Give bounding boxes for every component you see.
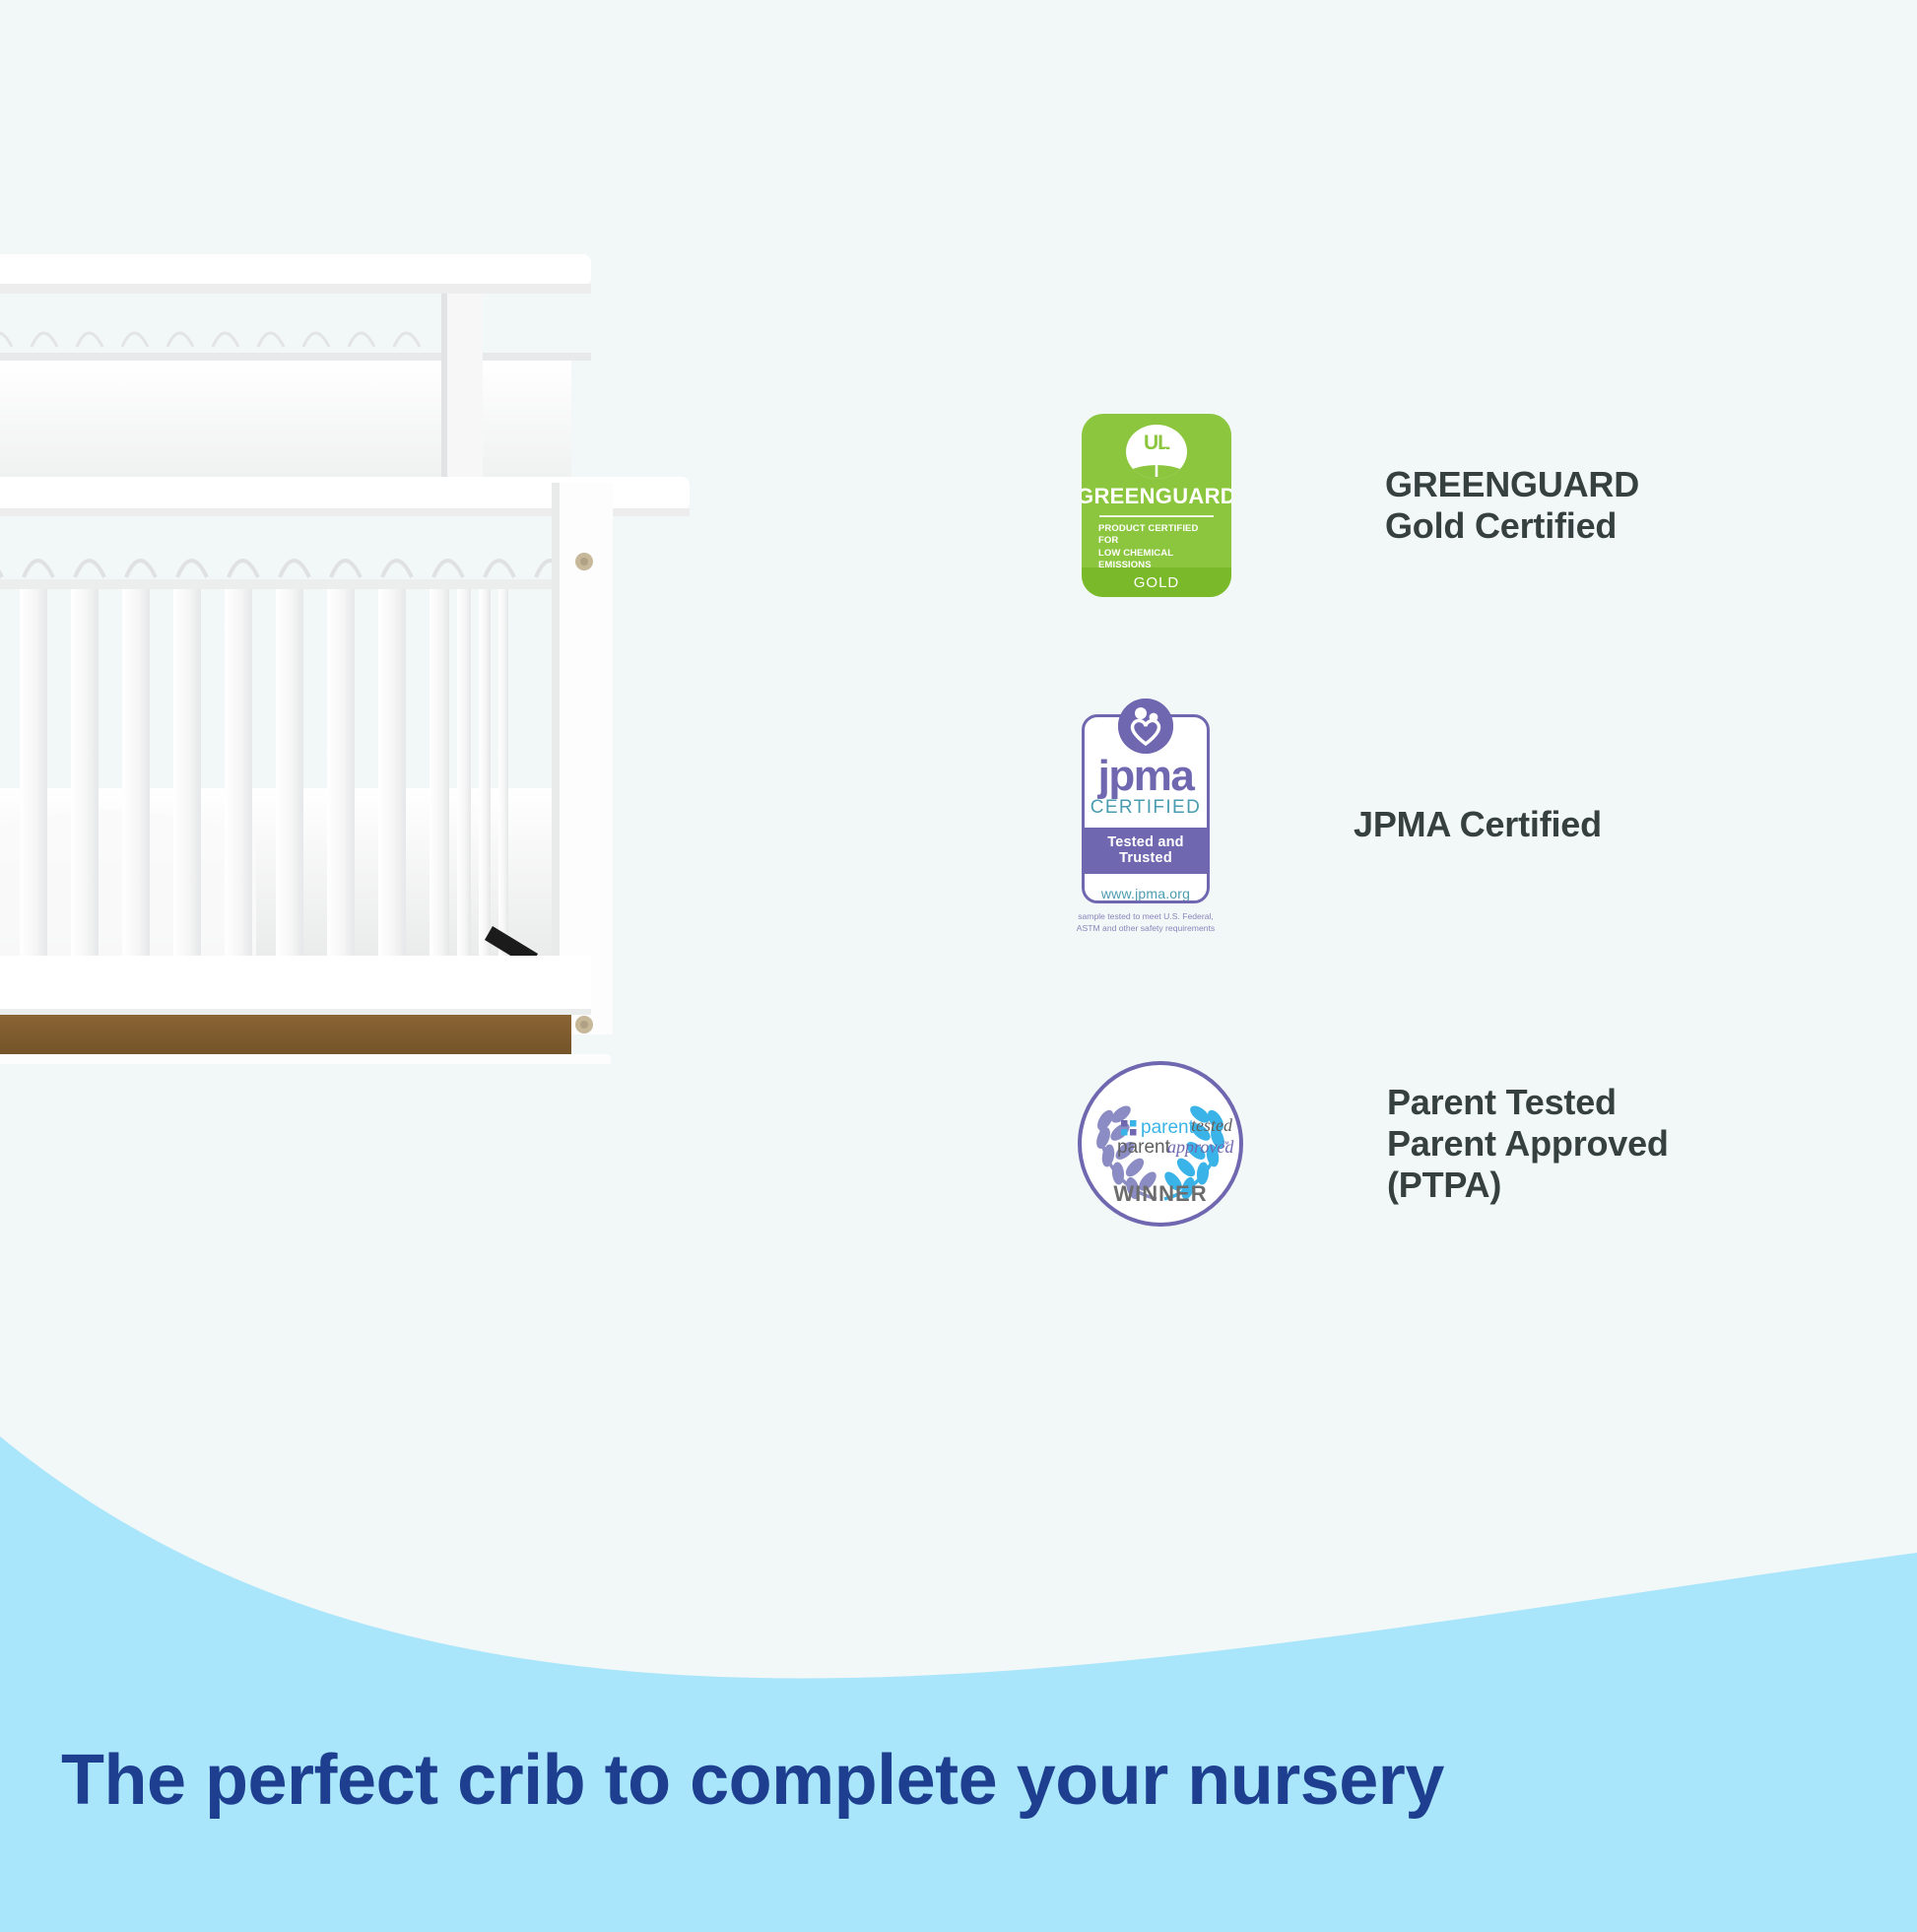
certification-label-greenguard: GREENGUARD Gold Certified: [1385, 464, 1639, 547]
certification-row-jpma: jpma CERTIFIED Tested and Trusted www.jp…: [1082, 714, 1602, 934]
certification-row-ptpa: parent tested parent approved ™ WINNER P…: [1076, 1059, 1669, 1229]
crib-product-photo: [0, 236, 690, 1064]
svg-text:parent: parent: [1117, 1137, 1171, 1158]
crib-bottom-rail: [0, 956, 591, 1011]
divider-rule: [1099, 515, 1214, 517]
greenguard-level-band: GOLD: [1082, 567, 1231, 597]
jpma-wordmark: jpma: [1085, 755, 1207, 798]
jpma-tested-trusted-band: Tested and Trusted: [1085, 828, 1207, 874]
certification-label-jpma: JPMA Certified: [1354, 804, 1602, 845]
ul-mark-icon: UL: [1126, 425, 1187, 479]
certification-label-ptpa: Parent Tested Parent Approved (PTPA): [1387, 1082, 1669, 1206]
crib-scallop-molding: [0, 561, 565, 577]
wave-footer-background: [0, 1360, 1917, 1932]
svg-text:™: ™: [1222, 1140, 1229, 1149]
jpma-certified-label: CERTIFIED: [1085, 798, 1207, 817]
crib-corner-post: [552, 483, 613, 1034]
svg-text:parent: parent: [1141, 1117, 1195, 1138]
page-headline: The perfect crib to complete your nurser…: [61, 1744, 1539, 1819]
marketing-image-canvas: UL GREENGUARD PRODUCT CERTIFIED FOR LOW …: [0, 0, 1917, 1932]
jpma-fine-print: sample tested to meet U.S. Federal, ASTM…: [1072, 911, 1220, 934]
greenguard-badge-icon: UL GREENGUARD PRODUCT CERTIFIED FOR LOW …: [1082, 414, 1231, 597]
crib-back-headboard: [0, 254, 591, 481]
leaf-icon: [1146, 447, 1167, 477]
ptpa-badge-icon: parent tested parent approved ™ WINNER: [1076, 1059, 1245, 1229]
jpma-url-text: www.jpma.org: [1085, 874, 1207, 901]
svg-text:tested: tested: [1191, 1115, 1233, 1135]
ptpa-wordmark: parent tested parent approved ™: [1117, 1115, 1234, 1158]
parent-child-heart-icon: [1118, 699, 1173, 754]
certification-row-greenguard: UL GREENGUARD PRODUCT CERTIFIED FOR LOW …: [1082, 414, 1639, 597]
greenguard-wordmark: GREENGUARD: [1082, 484, 1231, 509]
ptpa-award-text: WINNER: [1113, 1181, 1207, 1206]
jpma-badge-icon: jpma CERTIFIED Tested and Trusted www.jp…: [1082, 714, 1210, 934]
